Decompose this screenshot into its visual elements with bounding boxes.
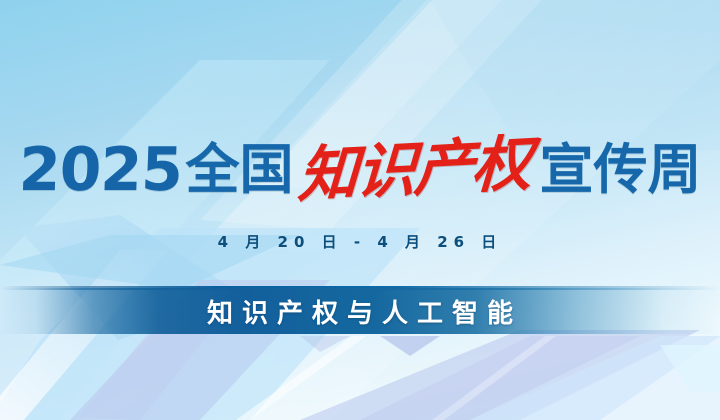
title-scope: 全国 (186, 143, 294, 197)
banner-title: 2025 全国 知识产权 宣传周 (0, 134, 720, 206)
background-decoration (0, 0, 720, 420)
subtitle-text: 知识产权与人工智能 (198, 293, 522, 330)
title-highlight: 知识产权 (296, 134, 531, 206)
ip-week-banner: 2025 全国 知识产权 宣传周 4 月 20 日 - 4 月 26 日 知识产… (0, 0, 720, 420)
date-range: 4 月 20 日 - 4 月 26 日 (0, 231, 720, 252)
background-shapes-svg (0, 0, 720, 420)
subtitle-band: 知识产权与人工智能 (0, 288, 720, 334)
title-suffix: 宣传周 (540, 143, 702, 197)
title-year: 2025 (17, 140, 182, 200)
